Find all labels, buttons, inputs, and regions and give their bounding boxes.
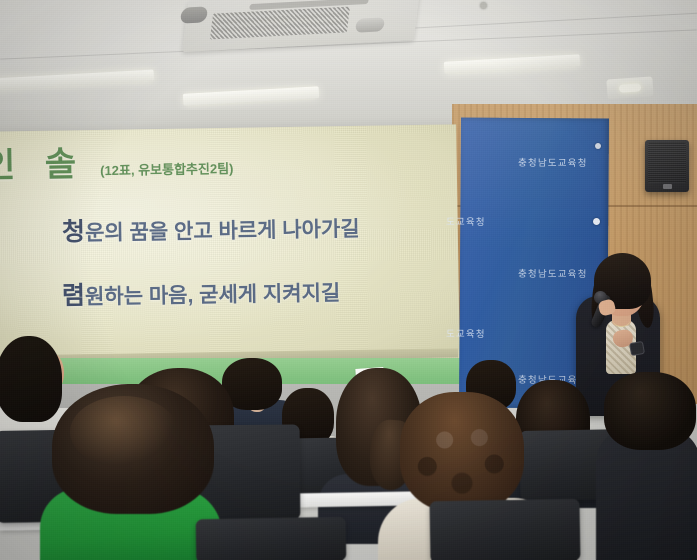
slide-line-2-lead: 렴	[62, 282, 85, 310]
sprinkler-icon	[480, 2, 487, 9]
chair	[196, 517, 347, 560]
banner-text-tile: 도교육청	[446, 214, 486, 228]
slide-line-2: 렴원하는 마음, 굳세게 지켜지길	[62, 272, 341, 312]
slide-line-1: 청운의 꿈을 안고 바르게 나아가길	[62, 208, 360, 249]
slide-title: 인 솔	[0, 136, 86, 187]
banner-text-tile: 충청남도교육청	[518, 155, 588, 169]
slide-line-2-rest: 원하는 마음, 굳세게 지켜지길	[85, 282, 341, 309]
attendee-long-hair-hair	[0, 336, 62, 422]
speaker-grille	[648, 143, 686, 183]
chair	[429, 499, 580, 560]
banner-text-tile: 충청남도교육청	[518, 266, 588, 280]
speaker-badge	[663, 184, 672, 189]
slide-line-1-rest: 운의 꿈을 안고 바르게 나아가길	[85, 218, 360, 245]
attendee-green-shirt-hair-highlight	[70, 396, 178, 468]
slide-title-row: 인 솔 (12표, 유보통합추진2팀)	[0, 134, 234, 187]
banner-grommet	[593, 218, 600, 225]
slide-subtitle: (12표, 유보통합추진2팀)	[100, 158, 234, 179]
smartwatch	[629, 341, 645, 356]
attendee-curly-hair-texture	[400, 392, 524, 512]
attendee-far-right-hair	[604, 372, 696, 450]
slide-line-1-lead: 청	[62, 218, 85, 246]
photo-scene: 인 솔 (12표, 유보통합추진2팀) 청운의 꿈을 안고 바르게 나아가길 렴…	[0, 0, 697, 560]
banner-text-tile: 도교육청	[446, 326, 486, 340]
banner-grommet	[595, 143, 601, 149]
ceiling-downlight-lens	[619, 83, 642, 93]
